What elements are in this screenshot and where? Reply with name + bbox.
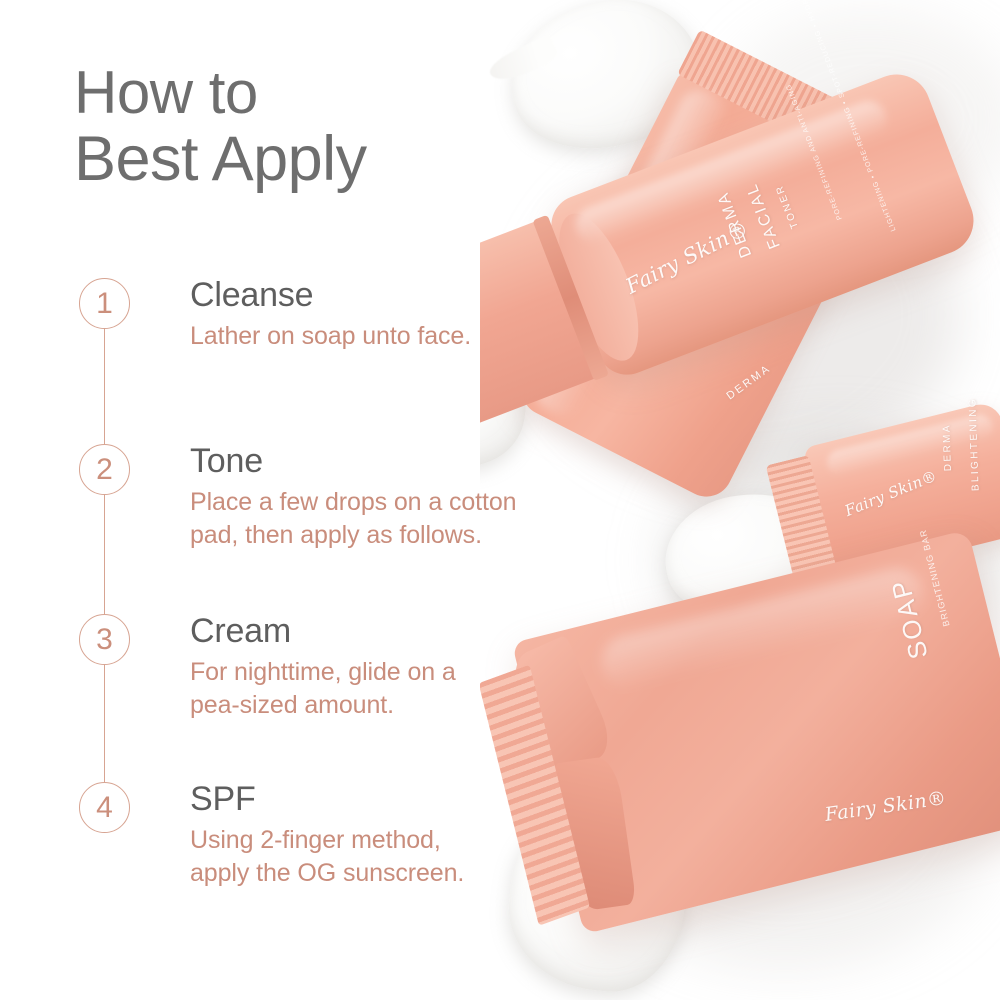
small-tube-label-line2: BLIGHTENING [967,397,981,492]
backdrop-shadow [720,10,1000,230]
step-description: Place a few drops on a cotton pad, then … [190,486,620,552]
steps-list: 1 Cleanse Lather on soap unto face. 2 To… [0,0,620,1000]
step-description: For nighttime, glide on a pea-sized amou… [190,656,620,722]
step-number: 2 [96,455,113,485]
step-title: SPF [190,780,256,819]
step-number: 3 [96,625,113,655]
backdrop-shadow [660,430,1000,690]
bottle-label-line3: TONER [774,182,801,230]
small-tube-label-line1: DERMA [941,423,954,471]
tube-brand-label: Fairy Skin® [740,165,846,250]
bottle-label-line2: FACIAL [743,180,785,251]
small-tube-crimp [766,455,838,582]
timeline-connector-line [104,300,105,805]
backdrop-shadow [570,640,1000,970]
small-tube-body [803,400,1000,580]
cream-swatch-middle [656,482,834,628]
small-tube-brand-label: Fairy Skin® [842,467,939,520]
bottle-side-text-1: PORE-REFINING AND ANTI-AGING [785,83,844,221]
step-number-circle: 1 [79,278,130,329]
step-number: 1 [96,289,113,319]
step-description: Lather on soap unto face. [190,320,620,353]
step-number-circle: 3 [79,614,130,665]
bottle-side-text-2: LIGHTENING • PORE-REFINING • SPOT-REDUCI… [792,0,897,232]
soap-brand-label: Fairy Skin® [823,787,947,826]
step-title: Tone [190,442,263,481]
step-number: 4 [96,793,113,823]
small-tube-highlight [824,412,995,478]
soap-highlight [596,563,929,695]
product-derma-brightening-tube: Fairy Skin® DERMA BLIGHTENING [762,395,1000,596]
step-number-circle: 2 [79,444,130,495]
step-number-circle: 4 [79,782,130,833]
bottle-label-line1: DERMA [714,188,756,260]
step-title: Cream [190,612,291,651]
soap-product-label: SOAP [885,575,935,662]
how-to-best-apply-infographic: { "title": { "line1": "How to", "line2":… [0,0,1000,1000]
step-description: Using 2-finger method, apply the OG suns… [190,824,620,890]
bottle-brand-label: Fairy Skin® [622,216,753,299]
step-title: Cleanse [190,276,313,315]
soap-sublabel: BRIGHTENING BAR [918,528,952,627]
tube-product-label: DERMA [724,362,773,402]
tube-crimp [677,30,908,181]
